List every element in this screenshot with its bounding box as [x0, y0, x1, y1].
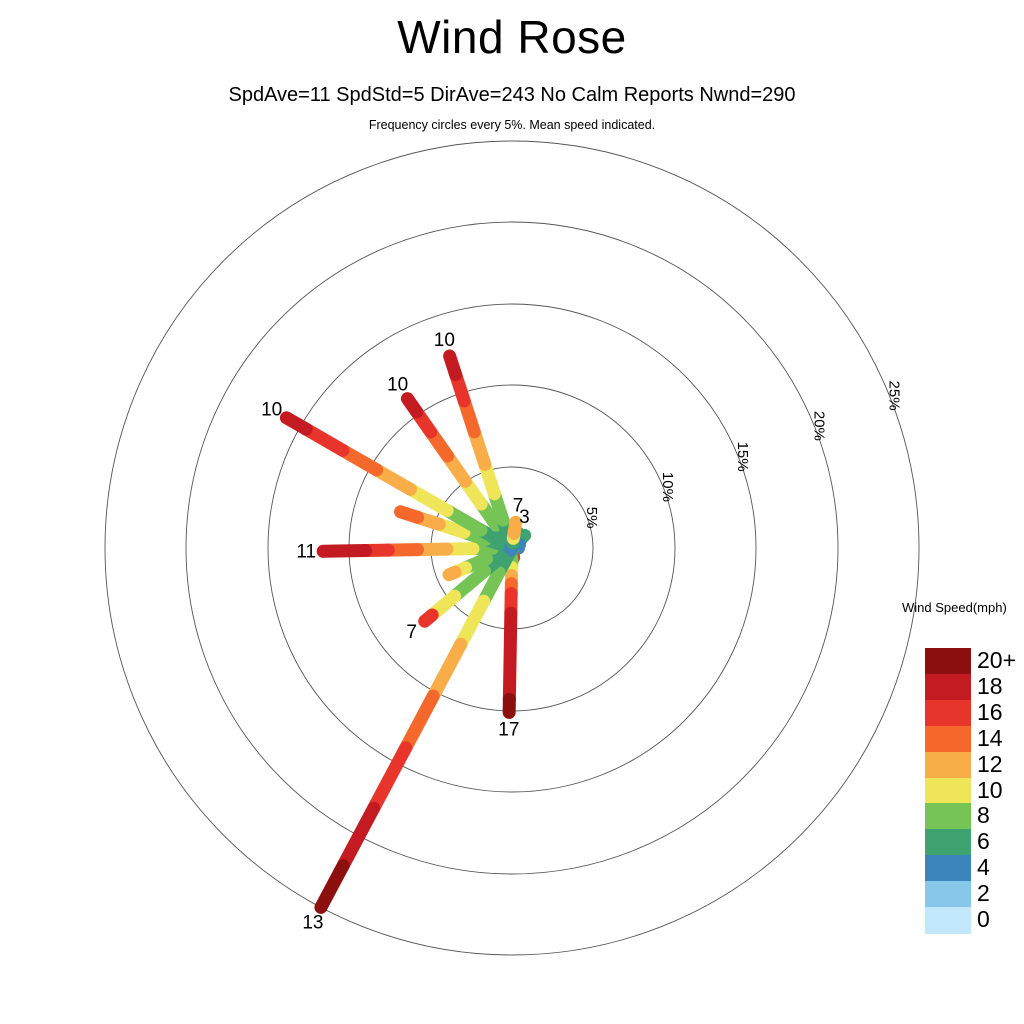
legend-label: 20+ — [977, 649, 1016, 672]
legend-swatch — [925, 674, 971, 701]
petal-segment — [286, 418, 306, 429]
legend-label: 6 — [977, 830, 990, 853]
legend-label: 10 — [977, 779, 1003, 802]
legend-swatch — [925, 726, 971, 753]
legend-swatch — [925, 855, 971, 882]
petal-mean-speed-label: 17 — [498, 719, 519, 740]
petal-mean-speed-label: 11 — [296, 542, 316, 563]
legend-label: 2 — [977, 882, 990, 905]
petal-segment — [433, 644, 461, 696]
legend-label: 16 — [977, 701, 1003, 724]
wind-petal — [321, 548, 512, 907]
petal-segment — [407, 399, 416, 412]
petal-mean-speed-label: 13 — [302, 912, 323, 933]
ring-label: 25% — [885, 381, 902, 411]
legend-label: 4 — [977, 856, 990, 879]
petal-segment — [401, 512, 418, 518]
ring-label-group: 5%10%15%20%25% — [583, 381, 902, 529]
legend-label: 14 — [977, 727, 1003, 750]
petal-segment — [509, 613, 511, 699]
legend-swatch — [925, 907, 971, 934]
legend-swatch — [925, 752, 971, 779]
petal-segment — [425, 615, 432, 621]
petal-segment — [374, 748, 406, 808]
petal-mean-speed-label: 10 — [387, 375, 408, 396]
petal-segment — [449, 572, 455, 575]
legend-label: 12 — [977, 753, 1003, 776]
wind-petal — [323, 548, 512, 551]
petal-segment — [321, 866, 343, 908]
petal-segment — [343, 808, 374, 865]
petal-segment — [323, 551, 365, 552]
ring-label: 20% — [810, 411, 827, 441]
petal-mean-speed-label: 10 — [261, 399, 282, 420]
petal-segment — [522, 535, 525, 538]
legend-label: 8 — [977, 804, 990, 827]
legend-swatch — [925, 881, 971, 908]
legend-label: 18 — [977, 675, 1003, 698]
petal-segment — [450, 356, 456, 375]
wind-rose-plot: 5%10%15%20%25% 317137111010107 — [0, 0, 1024, 1024]
wind-petal — [512, 522, 516, 548]
ring-label: 5% — [583, 507, 600, 529]
legend-title: Wind Speed(mph) — [902, 600, 1007, 615]
legend-swatch — [925, 700, 971, 727]
legend-swatch — [925, 778, 971, 805]
legend-swatch — [925, 803, 971, 830]
wind-rose-page: Wind Rose SpdAve=11 SpdStd=5 DirAve=243 … — [0, 0, 1024, 1024]
wind-speed-legend: 20+181614121086420 — [925, 648, 1024, 933]
legend-swatch — [925, 829, 971, 856]
petal-mean-speed-label: 7 — [513, 495, 524, 516]
petal-mean-speed-label: 10 — [434, 330, 455, 351]
wind-petal — [509, 548, 512, 712]
legend-swatch — [925, 648, 971, 675]
petal-segment — [514, 522, 516, 533]
ring-label: 10% — [659, 472, 676, 502]
ring-label: 15% — [734, 442, 751, 472]
petal-segment — [406, 696, 434, 748]
legend-label: 0 — [977, 908, 990, 931]
petal-mean-speed-label: 7 — [406, 622, 417, 643]
